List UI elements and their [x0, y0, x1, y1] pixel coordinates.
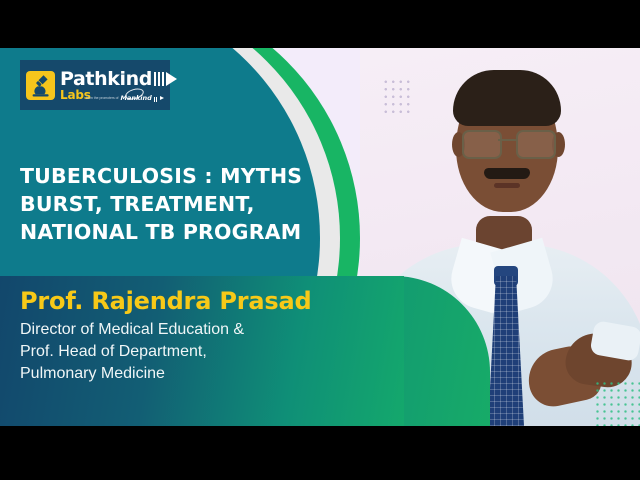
photo-eyeglass-left	[462, 130, 502, 159]
microscope-icon	[26, 71, 55, 100]
dot-grid-pattern-top-right	[382, 78, 414, 118]
speaker-info: Prof. Rajendra Prasad Director of Medica…	[20, 286, 380, 385]
promoter-name: Mankind	[120, 94, 151, 102]
dot-grid-pattern-bottom-right	[594, 380, 640, 426]
photo-moustache	[484, 168, 530, 179]
title-slide: Pathkind Labs from the promoters of Mank…	[0, 48, 640, 426]
photo-mouth	[494, 183, 520, 188]
brand-logo[interactable]: Pathkind Labs from the promoters of Mank…	[20, 60, 170, 110]
photo-hair	[453, 70, 561, 126]
brand-name: Pathkind	[60, 70, 152, 89]
promoter-bars-icon	[154, 89, 158, 107]
letterbox-bottom	[0, 426, 640, 480]
promoter-credit: from the promoters of Mankind	[86, 89, 164, 107]
speaker-role-line-2: Prof. Head of Department,	[20, 341, 380, 363]
headline-line-2: BURST, TREATMENT,	[20, 191, 350, 219]
headline-line-3: NATIONAL TB PROGRAM	[20, 219, 350, 247]
speaker-role-line-3: Pulmonary Medicine	[20, 363, 380, 385]
brand-play-triangle-icon	[166, 72, 177, 86]
speaker-role-line-1: Director of Medical Education &	[20, 319, 380, 341]
speaker-role: Director of Medical Education & Prof. He…	[20, 319, 380, 385]
speaker-name: Prof. Rajendra Prasad	[20, 286, 380, 316]
letterbox-top	[0, 0, 640, 48]
promoter-triangle-icon	[160, 96, 164, 100]
photo-eyeglass-right	[516, 130, 556, 159]
headline: TUBERCULOSIS : MYTHS BURST, TREATMENT, N…	[20, 163, 350, 247]
brand-bars-icon	[154, 72, 166, 86]
photo-eyeglass-bridge	[498, 139, 516, 141]
video-frame: Pathkind Labs from the promoters of Mank…	[0, 0, 640, 480]
promoter-prefix: from the promoters of	[86, 96, 118, 100]
headline-line-1: TUBERCULOSIS : MYTHS	[20, 163, 350, 191]
